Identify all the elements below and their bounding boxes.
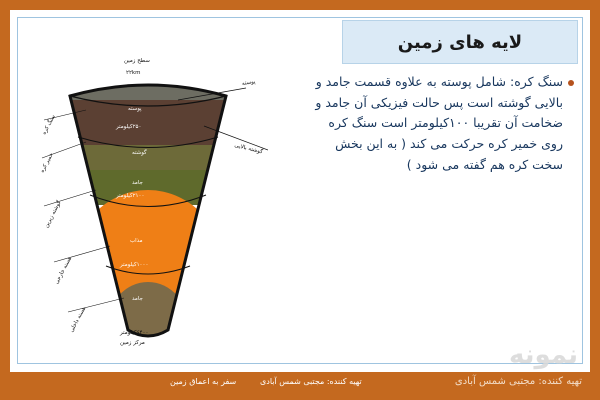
label-depth-250: ۲۵۰کیلومتر [116,124,141,131]
footer-author-right: تهیه کننده: مجتبی شمس آبادی [455,376,582,387]
earth-cutaway-svg [28,30,268,350]
slide: لایه های زمین سنگ کره: شامل پوسته به علا… [0,0,600,400]
label-crust-depth: ۲۲km [126,70,140,77]
label-mantle-solid: جامد [132,180,143,187]
frame-right [590,0,600,400]
label-crust: پوسته [128,106,142,113]
leader-line-inner-core [68,298,124,312]
label-depth-1000: ۱۰۰۰کیلومتر [120,262,148,269]
page-title: لایه های زمین [398,32,522,53]
footer-strip: تهیه کننده: مجتبی شمس آبادی سفر به اعماق… [10,372,590,400]
earth-layers-diagram: سطح زمین ۲۲km پوسته ۲۵۰کیلومتر گوشته جام… [28,30,268,350]
leader-line-outer-core [54,246,110,262]
label-inner-core: جامد [132,296,143,303]
bullet-text: سنگ کره: شامل پوسته به علاوه قسمت جامد و… [312,72,563,175]
footer-author: تهیه کننده: مجتبی شمس آبادی [260,377,362,386]
label-surface: سطح زمین [124,58,150,65]
layer-surface [58,70,248,80]
label-outer-core: مذاب [130,238,143,245]
bullet-block: سنگ کره: شامل پوسته به علاوه قسمت جامد و… [312,72,574,175]
watermark: نمونه [509,340,578,370]
label-depth-2100: ۲۱۰۰کیلومتر [116,193,144,200]
frame-top [0,0,600,10]
label-center: مرکز زمین [120,340,145,347]
leader-line-lower-mantle [44,190,96,206]
label-mantle-1: گوشته [132,150,147,157]
title-box: لایه های زمین [342,20,578,64]
frame-left [0,0,10,400]
bullet-dot-icon [568,80,574,86]
footer-bar: تهیه کننده: مجتبی شمس آبادی سفر به اعماق… [0,372,600,400]
label-depth-6400: ۶۴۰۰کیلومتر [120,330,148,337]
footer-subject: سفر به اعماق زمین [170,377,236,386]
